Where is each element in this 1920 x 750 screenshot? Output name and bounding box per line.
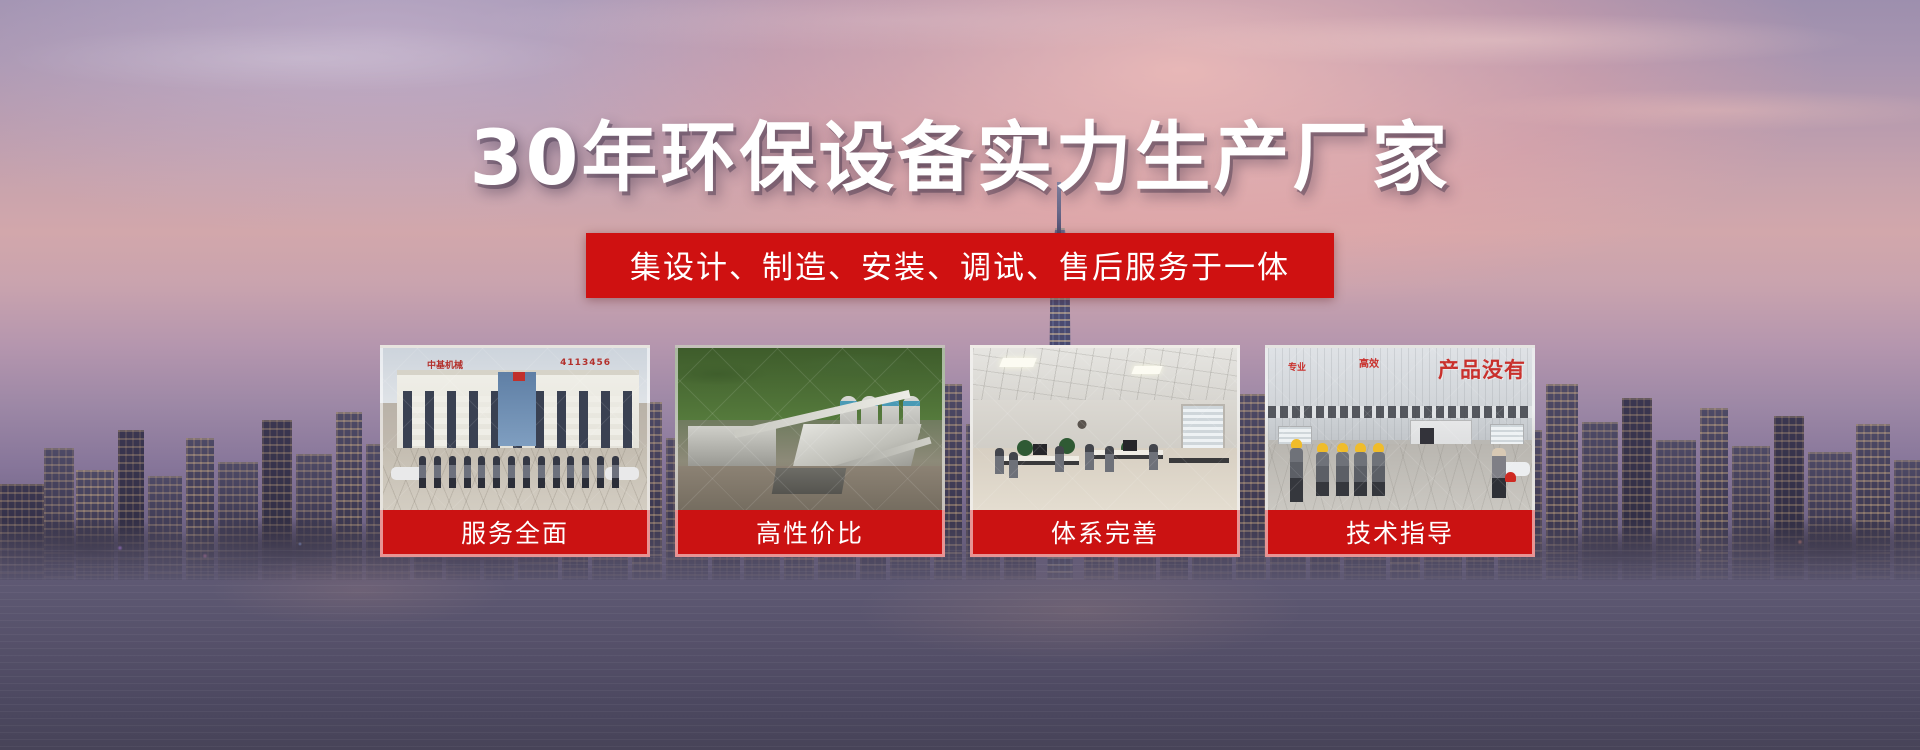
water-reflection bbox=[0, 550, 1920, 750]
factory-sign-text: 产品没有 bbox=[1438, 354, 1526, 384]
feature-card[interactable]: 中基机械 4113456 服务全面 bbox=[380, 345, 650, 557]
hero-banner: 30年环保设备实力生产厂家 集设计、制造、安装、调试、售后服务于一体 中基机械 … bbox=[0, 0, 1920, 750]
building-phone-text: 4113456 bbox=[560, 358, 611, 368]
card-photo-company-building: 中基机械 4113456 bbox=[380, 345, 650, 510]
card-label: 技术指导 bbox=[1265, 510, 1535, 557]
card-label: 体系完善 bbox=[970, 510, 1240, 557]
subtitle-banner: 集设计、制造、安装、调试、售后服务于一体 bbox=[586, 233, 1334, 298]
factory-slogan-left: 专业 bbox=[1284, 362, 1310, 374]
feature-card[interactable]: 体系完善 bbox=[970, 345, 1240, 557]
subtitle-bar-wrap: 集设计、制造、安装、调试、售后服务于一体 bbox=[0, 233, 1920, 298]
factory-slogan-mid: 高效 bbox=[1354, 358, 1384, 371]
building-sign-text: 中基机械 bbox=[427, 358, 463, 371]
card-label: 高性价比 bbox=[675, 510, 945, 557]
card-photo-industrial-plant bbox=[675, 345, 945, 510]
feature-card[interactable]: 高性价比 bbox=[675, 345, 945, 557]
card-photo-office-interior bbox=[970, 345, 1240, 510]
feature-card-list: 中基机械 4113456 服务全面 高性价比 bbox=[380, 345, 1535, 557]
page-title: 30年环保设备实力生产厂家 bbox=[0, 96, 1920, 206]
feature-card[interactable]: 产品没有 专业 高效 技术指导 bbox=[1265, 345, 1535, 557]
card-photo-factory-workers: 产品没有 专业 高效 bbox=[1265, 345, 1535, 510]
card-label: 服务全面 bbox=[380, 510, 650, 557]
flag-icon bbox=[513, 372, 525, 381]
